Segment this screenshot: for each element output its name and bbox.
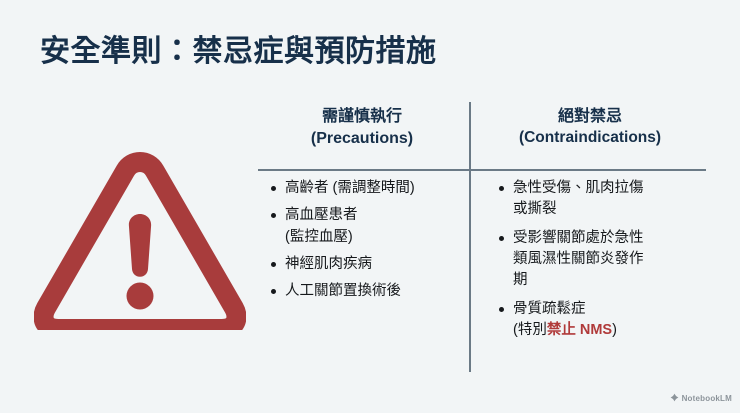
- list-item: 骨質疏鬆症 (特別禁止 NMS): [498, 299, 694, 342]
- column-header-en: (Precautions): [258, 128, 466, 150]
- list-item: 受影響關節處於急性 類風濕性關節炎發作 期: [498, 228, 694, 292]
- subtext-prefix: (特別: [513, 322, 547, 338]
- subtext-highlight: 禁止 NMS: [547, 322, 612, 338]
- list-item-text: 高血壓患者: [285, 207, 358, 223]
- vertical-divider: [469, 102, 471, 372]
- list-item-text: 神經肌肉疾病: [285, 256, 372, 272]
- column-header-cn: 絕對禁忌: [486, 106, 694, 128]
- slide-root: 安全準則：禁忌症與預防措施 需謹慎執行 (Precautions) 高齡者 (需…: [0, 0, 740, 413]
- list-item: 人工關節置換術後: [270, 281, 466, 302]
- list-item: 高血壓患者 (監控血壓): [270, 205, 466, 248]
- column-header-cn: 需謹慎執行: [258, 106, 466, 128]
- list-contraindications: 急性受傷、肌肉拉傷 或撕裂 受影響關節處於急性 類風濕性關節炎發作 期 骨質疏鬆…: [498, 178, 694, 348]
- list-item: 神經肌肉疾病: [270, 254, 466, 275]
- warning-triangle-icon: [34, 148, 246, 330]
- list-item-text: 人工關節置換術後: [285, 283, 401, 299]
- list-item-subtext: 類風濕性關節炎發作: [513, 249, 694, 270]
- list-item-text: 受影響關節處於急性: [513, 230, 644, 246]
- list-item: 急性受傷、肌肉拉傷 或撕裂: [498, 178, 694, 221]
- column-precautions: 需謹慎執行 (Precautions) 高齡者 (需調整時間) 高血壓患者 (監…: [258, 100, 466, 376]
- list-item-subtext: (監控血壓): [285, 227, 466, 248]
- column-header-en: (Contraindications): [486, 128, 694, 149]
- list-item-text: 高齡者 (需調整時間): [285, 180, 415, 196]
- list-item-subtext-2: 期: [513, 270, 694, 291]
- list-item: 高齡者 (需調整時間): [270, 178, 466, 199]
- column-header-contraindications: 絕對禁忌 (Contraindications): [486, 100, 694, 149]
- column-contraindications: 絕對禁忌 (Contraindications) 急性受傷、肌肉拉傷 或撕裂 受…: [486, 100, 694, 376]
- comparison-table: 需謹慎執行 (Precautions) 高齡者 (需調整時間) 高血壓患者 (監…: [258, 100, 706, 376]
- notebooklm-watermark: NotebookLM: [670, 389, 732, 407]
- list-item-subtext: 或撕裂: [513, 199, 694, 220]
- list-item-text: 急性受傷、肌肉拉傷: [513, 180, 644, 196]
- column-header-precautions: 需謹慎執行 (Precautions): [258, 100, 466, 149]
- notebooklm-icon: [670, 389, 679, 407]
- notebooklm-label: NotebookLM: [682, 394, 732, 403]
- list-item-subtext: (特別禁止 NMS): [513, 320, 694, 341]
- list-precautions: 高齡者 (需調整時間) 高血壓患者 (監控血壓) 神經肌肉疾病 人工關節置換術後: [270, 178, 466, 309]
- list-item-text: 骨質疏鬆症: [513, 301, 586, 317]
- subtext-suffix: ): [612, 322, 617, 338]
- page-title: 安全準則：禁忌症與預防措施: [40, 33, 437, 71]
